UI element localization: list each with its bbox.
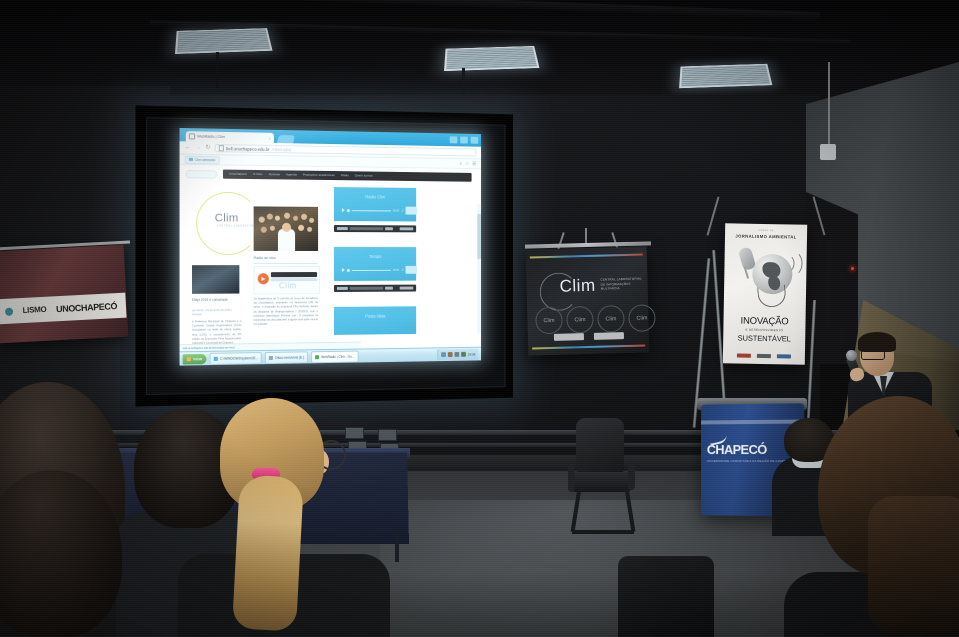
chair-backrest xyxy=(576,418,624,474)
browser-window[interactable]: WebRádio | Clim × ← → ↻ xyxy=(180,128,482,366)
address-bar[interactable]: bell.unochapeco.edu.br /clim/radio/ xyxy=(215,144,477,157)
sound-wave-icon xyxy=(781,250,802,276)
download-chip[interactable] xyxy=(337,287,348,291)
new-tab-button[interactable] xyxy=(277,135,295,143)
microphone-head xyxy=(846,350,857,361)
clim-circle: Clim xyxy=(628,304,656,332)
taskbar-item[interactable]: C:\WINDOWS\system32... xyxy=(210,352,263,365)
audience-member-right-front xyxy=(790,396,959,637)
progress-handle[interactable] xyxy=(347,209,350,212)
play-icon[interactable] xyxy=(342,208,345,212)
taskbar-item-label: WebRádio | Clim - Go... xyxy=(321,354,354,359)
article-meta: por admin | 22 de junho de 2015 | Notíci… xyxy=(192,309,241,317)
usb-icon[interactable] xyxy=(461,352,465,356)
article-thumbnail[interactable] xyxy=(192,265,239,294)
url-path: /clim/radio/ xyxy=(271,146,291,151)
sponsor-logo xyxy=(737,354,751,358)
glasses-icon xyxy=(861,350,885,360)
light-stem xyxy=(216,52,219,88)
action-chip[interactable] xyxy=(400,286,414,290)
banner-clim: Clim CENTRAL LABORATORIAL DE INFORMAÇÕES… xyxy=(526,246,650,355)
chair-armrest xyxy=(568,462,575,492)
banner-clim-circles: Clim Clim Clim Clim xyxy=(535,304,656,334)
podcast-download-bar[interactable] xyxy=(334,225,416,232)
office-chair xyxy=(566,418,640,536)
taskbar-item[interactable]: Disco removível (E:) xyxy=(265,351,308,364)
chair-armrest xyxy=(628,460,635,490)
photo-speaker-head xyxy=(282,223,291,232)
sponsor-logo xyxy=(593,332,623,340)
podcast-download-bar[interactable] xyxy=(334,285,416,292)
clim-circle: Clim xyxy=(535,307,563,335)
web-page-content[interactable]: Unochapecó O Clim Notícias Agenda Produç… xyxy=(180,165,482,351)
hanging-lamp xyxy=(820,144,836,160)
action-chip[interactable] xyxy=(400,227,414,231)
banner-line-3: SUSTENTÁVEL xyxy=(723,333,805,343)
projected-desktop[interactable]: WebRádio | Clim × ← → ↻ xyxy=(180,128,482,366)
clim-logo-word: Clim xyxy=(215,212,239,224)
maximize-icon[interactable] xyxy=(460,137,468,144)
progress-track[interactable] xyxy=(352,210,391,211)
nav-item-o-clim[interactable]: O Clim xyxy=(253,171,263,175)
podcast-time: 00:00 xyxy=(393,268,399,271)
audience-member-blonde-ponytail xyxy=(186,398,386,637)
system-tray[interactable]: 19:34 xyxy=(437,349,478,360)
group-photo xyxy=(254,206,318,251)
url-domain: bell.unochapeco.edu.br xyxy=(226,146,269,152)
projection-screen: WebRádio | Clim × ← → ↻ xyxy=(135,105,513,406)
nav-item-producoes[interactable]: Produções acadêmicas xyxy=(303,172,335,176)
taskbar-item-label: Disco removível (E:) xyxy=(275,355,304,359)
page-favicon-icon xyxy=(189,133,195,139)
drive-icon xyxy=(269,355,273,359)
laser-pointer-dot xyxy=(851,267,854,270)
presenter-hair xyxy=(858,332,896,352)
page-scrollbar[interactable] xyxy=(477,204,481,333)
windows-flag-icon xyxy=(187,357,191,361)
shield-icon[interactable] xyxy=(455,352,459,356)
page-info-icon xyxy=(219,145,224,151)
back-arrow-icon[interactable]: ← xyxy=(185,144,191,150)
clim-circle: Clim xyxy=(566,306,594,334)
ceiling-light-panel xyxy=(679,64,772,88)
close-window-icon[interactable] xyxy=(471,137,479,144)
volume-icon[interactable] xyxy=(448,352,452,356)
podcast-time: 00:00 xyxy=(393,209,399,212)
browser-tab-title: WebRádio | Clim xyxy=(197,134,225,139)
foreground-chair xyxy=(618,556,714,637)
bookmark-favicon-icon xyxy=(189,158,193,162)
ceiling-light-panel xyxy=(444,46,539,71)
taskbar-item[interactable]: WebRádio | Clim - Go... xyxy=(311,350,358,363)
banner-color-rule xyxy=(532,345,645,350)
banner-line-2: E DESENVOLVIMENTO xyxy=(723,327,805,332)
nav-item-quem-somos[interactable]: Quem somos xyxy=(355,173,373,177)
download-chip[interactable] xyxy=(337,227,348,231)
ceiling-light-panel xyxy=(175,28,273,54)
speaker-icon[interactable]: ♫ xyxy=(401,209,404,213)
podium-brand-text: CHAPECÓ xyxy=(707,442,767,457)
podcast-card[interactable]: Tempo 00:00 ♫ xyxy=(334,247,416,281)
table-leg xyxy=(395,536,399,562)
taskbar-item-label: C:\WINDOWS\system32... xyxy=(220,356,258,361)
speaker-icon[interactable]: ♫ xyxy=(401,268,404,272)
forward-arrow-icon: → xyxy=(195,145,201,151)
search-icon[interactable]: ⌕ xyxy=(459,161,462,167)
chair-base xyxy=(572,530,634,534)
window-controls[interactable] xyxy=(450,136,479,143)
podcast-controls[interactable]: 00:00 ♫ xyxy=(342,206,417,214)
podcast-title: Tempo xyxy=(334,254,416,259)
size-chip xyxy=(385,227,393,231)
browser-toolbar-icons[interactable]: ⌕ ☆ ☰ xyxy=(459,161,476,167)
close-tab-icon[interactable]: × xyxy=(269,135,271,140)
sponsor-logo xyxy=(757,354,771,358)
nav-item-noticias[interactable]: Notícias xyxy=(269,172,280,176)
audience-hair xyxy=(0,470,122,637)
banner-clim-subtitle: CENTRAL LABORATORIAL DE INFORMAÇÕES MULT… xyxy=(600,277,642,292)
audience-member-left-edge xyxy=(0,470,142,637)
podcast-controls[interactable]: 00:00 ♫ xyxy=(342,266,417,274)
chair-leg xyxy=(571,488,582,532)
taskbar-clock[interactable]: 19:34 xyxy=(468,352,476,356)
site-search-input[interactable] xyxy=(186,170,217,179)
nav-item-agenda[interactable]: Agenda xyxy=(286,172,297,176)
chrome-icon xyxy=(315,355,319,359)
bookmark-item[interactable]: Clim webradio xyxy=(185,155,220,164)
volume-slider[interactable] xyxy=(406,266,418,274)
divider xyxy=(254,263,318,264)
start-button[interactable]: Iniciar xyxy=(183,353,207,364)
status-link-url: bell.unochapeco.edu.br/clim/radio-ao-viv… xyxy=(183,346,235,350)
banner-line-1: INOVAÇÃO xyxy=(723,315,805,327)
podcast-title: Posta ideia xyxy=(334,313,416,319)
network-icon[interactable] xyxy=(441,352,445,356)
play-icon[interactable] xyxy=(342,268,345,272)
reload-icon[interactable]: ↻ xyxy=(205,145,210,151)
photo-speaker-body xyxy=(278,229,295,251)
article-excerpt: A Prefeitura Municipal de Chapecó e a Co… xyxy=(192,320,241,346)
podcast-card[interactable]: Posta ideia xyxy=(334,306,416,335)
ponytail xyxy=(232,474,304,631)
banner-color-rule xyxy=(530,254,643,259)
banner-sponsor-row xyxy=(723,353,805,358)
unochapeco-logo-text: UNOCHAPECÓ xyxy=(56,301,117,314)
banner-kicker: JORNALISMO AMBIENTAL xyxy=(725,233,807,239)
hanging-wire xyxy=(828,62,830,150)
size-chip xyxy=(385,286,393,290)
clim-circle: Clim xyxy=(597,305,625,333)
presentation-room-photo: WebRádio | Clim × ← → ↻ xyxy=(0,0,959,637)
live-radio-player[interactable]: ▶ Clim xyxy=(254,266,320,294)
banner-clim-word: Clim xyxy=(559,276,596,297)
console-icon xyxy=(214,356,218,360)
progress-handle[interactable] xyxy=(347,268,350,271)
podcast-title: Rádio Clim xyxy=(334,194,416,200)
sponsor-logo xyxy=(777,354,791,358)
sponsor-logo xyxy=(553,333,583,341)
chair-leg xyxy=(625,488,636,532)
filename-chip xyxy=(350,286,383,290)
scrollbar-thumb[interactable] xyxy=(477,214,481,259)
start-label: Iniciar xyxy=(193,357,202,361)
minimize-icon[interactable] xyxy=(450,136,458,143)
progress-track[interactable] xyxy=(352,269,391,270)
audience-hair-strands xyxy=(868,496,959,636)
play-icon[interactable]: ▶ xyxy=(258,273,269,284)
banner-eyebrow: CURSO DE xyxy=(725,229,807,232)
cable-shape xyxy=(757,285,787,308)
hamburger-menu-icon[interactable]: ☰ xyxy=(472,161,476,167)
article-title[interactable]: Efapi 2015 é cancelada xyxy=(192,298,241,303)
nav-item-radio[interactable]: Rádio xyxy=(341,173,349,177)
banner-artwork xyxy=(738,246,795,305)
page-body-text: Os acadêmicos do 3º período do curso de … xyxy=(254,297,318,327)
podcast-card[interactable]: Rádio Clim 00:00 ♫ xyxy=(334,187,416,221)
banner-left-logo-text: LISMO xyxy=(22,305,46,315)
bookmark-label: Clim webradio xyxy=(195,157,216,161)
banner-jornalismo-ambiental: CURSO DE JORNALISMO AMBIENTAL INOVAÇÃO E… xyxy=(723,223,807,364)
live-radio-heading: Rádio ao vivo xyxy=(254,256,276,260)
bookmark-star-icon[interactable]: ☆ xyxy=(465,161,469,167)
live-player-brand: Clim xyxy=(279,281,297,290)
nav-item-unochapeco[interactable]: Unochapecó xyxy=(229,171,247,175)
volume-slider[interactable] xyxy=(406,207,418,215)
jornalismo-mark-icon xyxy=(5,307,13,315)
filename-chip xyxy=(350,227,383,231)
live-player-bar[interactable] xyxy=(271,272,317,277)
